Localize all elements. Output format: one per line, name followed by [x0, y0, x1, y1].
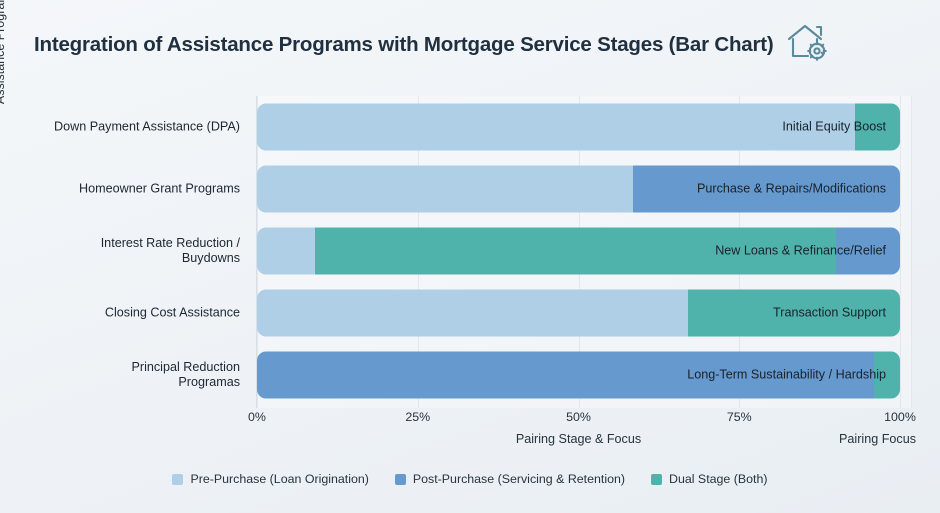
- y-axis-title: Assistance Program Type: [0, 0, 7, 148]
- bar-track: [257, 290, 900, 337]
- x-tick-label: 50%: [566, 410, 591, 424]
- y-tick-label-4: Principal Reduction Programas: [30, 360, 240, 390]
- bar-segment[interactable]: [257, 290, 688, 337]
- bar-segment[interactable]: [315, 228, 836, 275]
- y-tick-label-2: Interest Rate Reduction / Buydowns: [30, 236, 240, 266]
- bar-track: [257, 352, 900, 399]
- bar-segment[interactable]: [874, 352, 900, 399]
- bar-track: [257, 166, 900, 213]
- bar-track: [257, 228, 900, 275]
- y-tick-label-3: Closing Cost Assistance: [30, 306, 240, 321]
- chart-legend: Pre-Purchase (Loan Origination)Post-Purc…: [0, 472, 940, 486]
- bar-segment[interactable]: [836, 228, 900, 275]
- bar-segment[interactable]: [855, 104, 900, 151]
- bar-series-group: Initial Equity BoostPurchase & Repairs/M…: [257, 96, 900, 408]
- x-tick-label: 75%: [727, 410, 752, 424]
- chart-card: Integration of Assistance Programs with …: [0, 0, 940, 513]
- page-title: Integration of Assistance Programs with …: [34, 33, 774, 57]
- bar-segment[interactable]: [257, 166, 633, 213]
- bar-row[interactable]: Transaction Support: [257, 290, 900, 337]
- bar-row[interactable]: New Loans & Refinance/Relief: [257, 228, 900, 275]
- gridline-100: [900, 96, 901, 408]
- legend-swatch: [172, 474, 183, 485]
- x-axis-right-note: Pairing Focus: [839, 432, 916, 446]
- legend-swatch: [395, 474, 406, 485]
- y-tick-label-1: Homeowner Grant Programs: [30, 182, 240, 197]
- legend-label: Pre-Purchase (Loan Origination): [190, 472, 368, 486]
- x-axis-ticks: 0%25%50%75%100%: [257, 410, 900, 430]
- house-gear-icon: [784, 21, 830, 63]
- legend-item[interactable]: Pre-Purchase (Loan Origination): [172, 472, 368, 486]
- legend-item[interactable]: Dual Stage (Both): [651, 472, 768, 486]
- bar-row[interactable]: Purchase & Repairs/Modifications: [257, 166, 900, 213]
- bar-track: [257, 104, 900, 151]
- y-tick-label-0: Down Payment Assistance (DPA): [30, 120, 240, 135]
- bar-segment[interactable]: [257, 228, 315, 275]
- x-tick-label: 25%: [405, 410, 430, 424]
- bar-row[interactable]: Long-Term Sustainability / Hardship: [257, 352, 900, 399]
- bar-segment[interactable]: [688, 290, 900, 337]
- legend-item[interactable]: Post-Purchase (Servicing & Retention): [395, 472, 625, 486]
- legend-label: Dual Stage (Both): [669, 472, 768, 486]
- legend-label: Post-Purchase (Servicing & Retention): [413, 472, 625, 486]
- bar-segment[interactable]: [257, 352, 874, 399]
- bar-row[interactable]: Initial Equity Boost: [257, 104, 900, 151]
- x-tick-label: 0%: [248, 410, 266, 424]
- x-axis-title: Pairing Stage & Focus: [257, 432, 900, 446]
- bar-segment[interactable]: [633, 166, 900, 213]
- y-axis-labels: Down Payment Assistance (DPA) Homeowner …: [32, 96, 248, 408]
- legend-swatch: [651, 474, 662, 485]
- bar-segment[interactable]: [257, 104, 855, 151]
- x-tick-label: 100%: [884, 410, 916, 424]
- chart-header: Integration of Assistance Programs with …: [34, 22, 910, 68]
